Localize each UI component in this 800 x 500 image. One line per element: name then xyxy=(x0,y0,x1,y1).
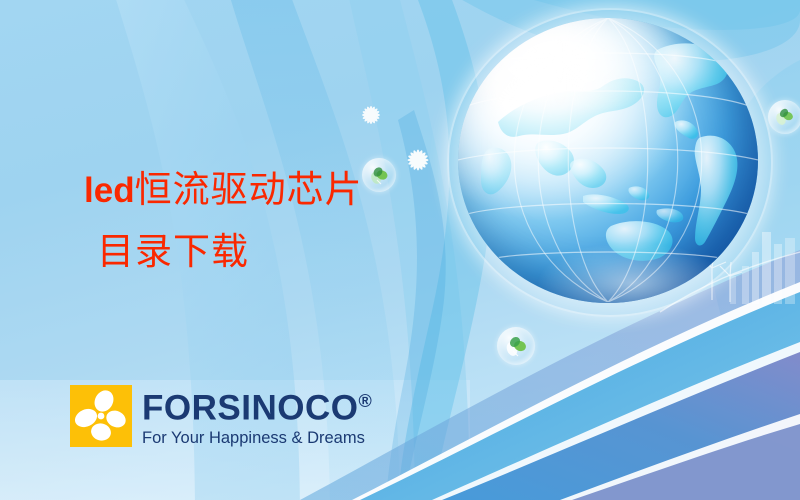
brand-name: FORSINOCO® xyxy=(142,383,372,427)
bubble-with-leaf-icon xyxy=(362,158,396,192)
bubble-with-leaf-icon xyxy=(497,327,535,365)
globe-overlay xyxy=(443,10,773,310)
bubble-with-leaf-icon xyxy=(768,100,800,134)
logo-text-block: FORSINOCO® For Your Happiness & Dreams xyxy=(142,383,372,448)
pinwheel-petal-icon xyxy=(70,385,132,447)
registered-mark: ® xyxy=(358,391,371,411)
flower-asterisk-icon xyxy=(403,145,433,175)
world-globe-icon xyxy=(443,10,773,310)
company-logo: FORSINOCO® For Your Happiness & Dreams xyxy=(70,385,372,448)
flower-asterisk-icon xyxy=(358,102,384,128)
brand-tagline: For Your Happiness & Dreams xyxy=(142,428,372,448)
headline-line-1-cjk: 恒流驱动芯片 xyxy=(135,170,363,211)
leaf-icon xyxy=(497,327,535,365)
headline-text: led恒流驱动芯片 目录下载 xyxy=(84,160,363,284)
banner-image: led恒流驱动芯片 目录下载 FORSINOCO® For Your Happi… xyxy=(0,0,800,500)
leaf-icon xyxy=(768,100,800,134)
brand-word: FORSINOCO xyxy=(142,389,358,428)
leaf-icon xyxy=(362,158,396,192)
headline-led-word: led xyxy=(84,171,135,210)
headline-line-2: 目录下载 xyxy=(97,222,363,284)
headline-line-1: led恒流驱动芯片 xyxy=(84,170,363,211)
